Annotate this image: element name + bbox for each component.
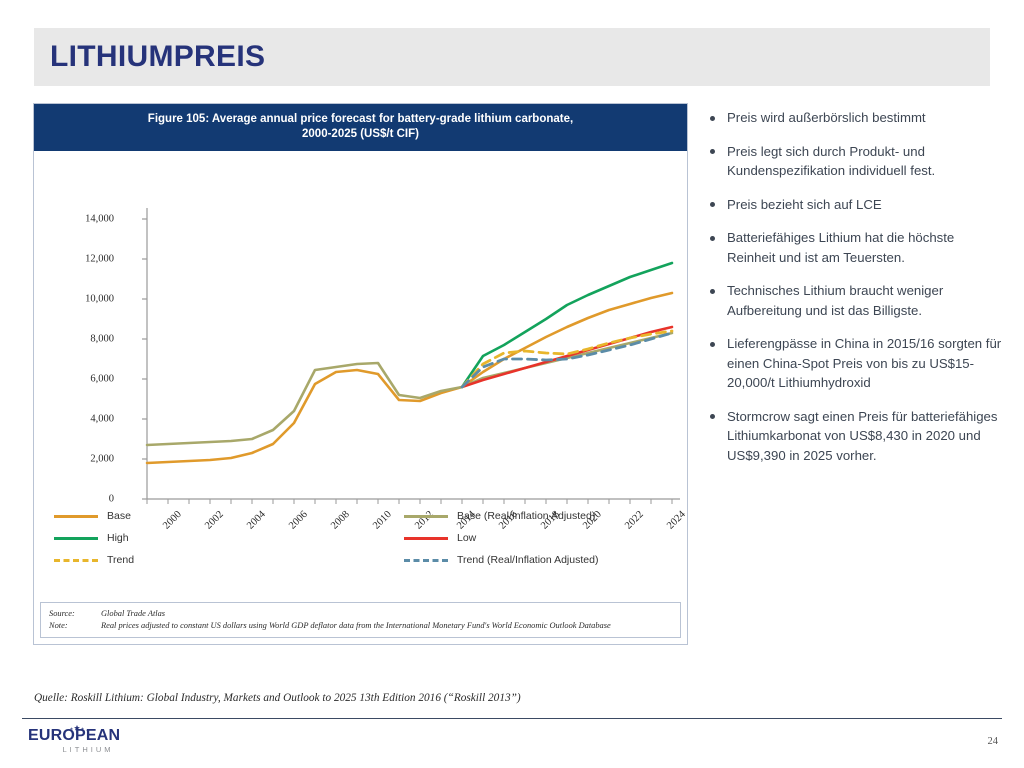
page-title: LITHIUMPREIS xyxy=(34,40,265,74)
legend-swatch xyxy=(404,559,448,562)
bullet-item: Lieferengpässe in China in 2015/16 sorgt… xyxy=(705,334,1005,393)
bullet-item: Preis bezieht sich auf LCE xyxy=(705,195,1005,215)
legend-swatch xyxy=(54,515,98,518)
legend-label: Trend xyxy=(107,554,134,566)
figure-panel: Figure 105: Average annual price forecas… xyxy=(33,103,688,645)
quelle-text: Quelle: Roskill Lithium: Global Industry… xyxy=(34,692,984,704)
legend-swatch xyxy=(404,515,448,518)
legend-swatch xyxy=(404,537,448,540)
source-row: Source: Global Trade Atlas xyxy=(49,608,672,620)
figure-header: Figure 105: Average annual price forecas… xyxy=(34,104,687,151)
bullet-item: Stormcrow sagt einen Preis für batterief… xyxy=(705,407,1005,466)
note-value: Real prices adjusted to constant US doll… xyxy=(101,620,672,632)
bullet-item: Preis wird außerbörslich bestimmt xyxy=(705,108,1005,128)
source-note-box: Source: Global Trade Atlas Note: Real pr… xyxy=(40,602,681,638)
legend-label: Base xyxy=(107,510,131,522)
european-lithium-logo: EUROPEAN LITHIUM xyxy=(28,727,148,763)
legend-item: Base (Real/Inflation Adjusted) xyxy=(404,510,595,522)
bullet-item: Preis legt sich durch Produkt- und Kunde… xyxy=(705,142,1005,181)
legend-label: High xyxy=(107,532,129,544)
figure-header-line2: 2000-2025 (US$/t CIF) xyxy=(74,127,647,142)
title-band: LITHIUMPREIS xyxy=(34,28,990,86)
chart-plot xyxy=(34,151,687,536)
bullet-list: Preis wird außerbörslich bestimmtPreis l… xyxy=(705,108,1005,479)
series-line xyxy=(462,263,672,387)
legend-label: Base (Real/Inflation Adjusted) xyxy=(457,510,595,522)
legend-label: Trend (Real/Inflation Adjusted) xyxy=(457,554,598,566)
figure-body: 02,0004,0006,0008,00010,00012,00014,000 … xyxy=(34,151,687,536)
note-row: Note: Real prices adjusted to constant U… xyxy=(49,620,672,632)
source-label: Source: xyxy=(49,608,101,620)
legend-item: High xyxy=(54,532,129,544)
legend-item: Base xyxy=(54,510,131,522)
chart-legend: BaseBase (Real/Inflation Adjusted)HighLo… xyxy=(34,504,689,589)
bullet-item: Technisches Lithium braucht weniger Aufb… xyxy=(705,281,1005,320)
legend-item: Trend xyxy=(54,554,134,566)
slide: LITHIUMPREIS Figure 105: Average annual … xyxy=(0,0,1024,768)
legend-swatch xyxy=(54,537,98,540)
chart-area: 02,0004,0006,0008,00010,00012,00014,000 … xyxy=(34,151,687,536)
page-number: 24 xyxy=(988,736,999,747)
stars-icon xyxy=(58,725,98,734)
bullet-item: Batteriefähiges Lithium hat die höchste … xyxy=(705,228,1005,267)
source-value: Global Trade Atlas xyxy=(101,608,672,620)
logo-subtext: LITHIUM xyxy=(28,745,148,754)
note-label: Note: xyxy=(49,620,101,632)
figure-header-line1: Figure 105: Average annual price forecas… xyxy=(74,112,647,127)
series-line xyxy=(147,293,672,463)
footer-divider xyxy=(22,718,1002,719)
legend-swatch xyxy=(54,559,98,562)
legend-label: Low xyxy=(457,532,476,544)
legend-item: Trend (Real/Inflation Adjusted) xyxy=(404,554,598,566)
legend-item: Low xyxy=(404,532,476,544)
